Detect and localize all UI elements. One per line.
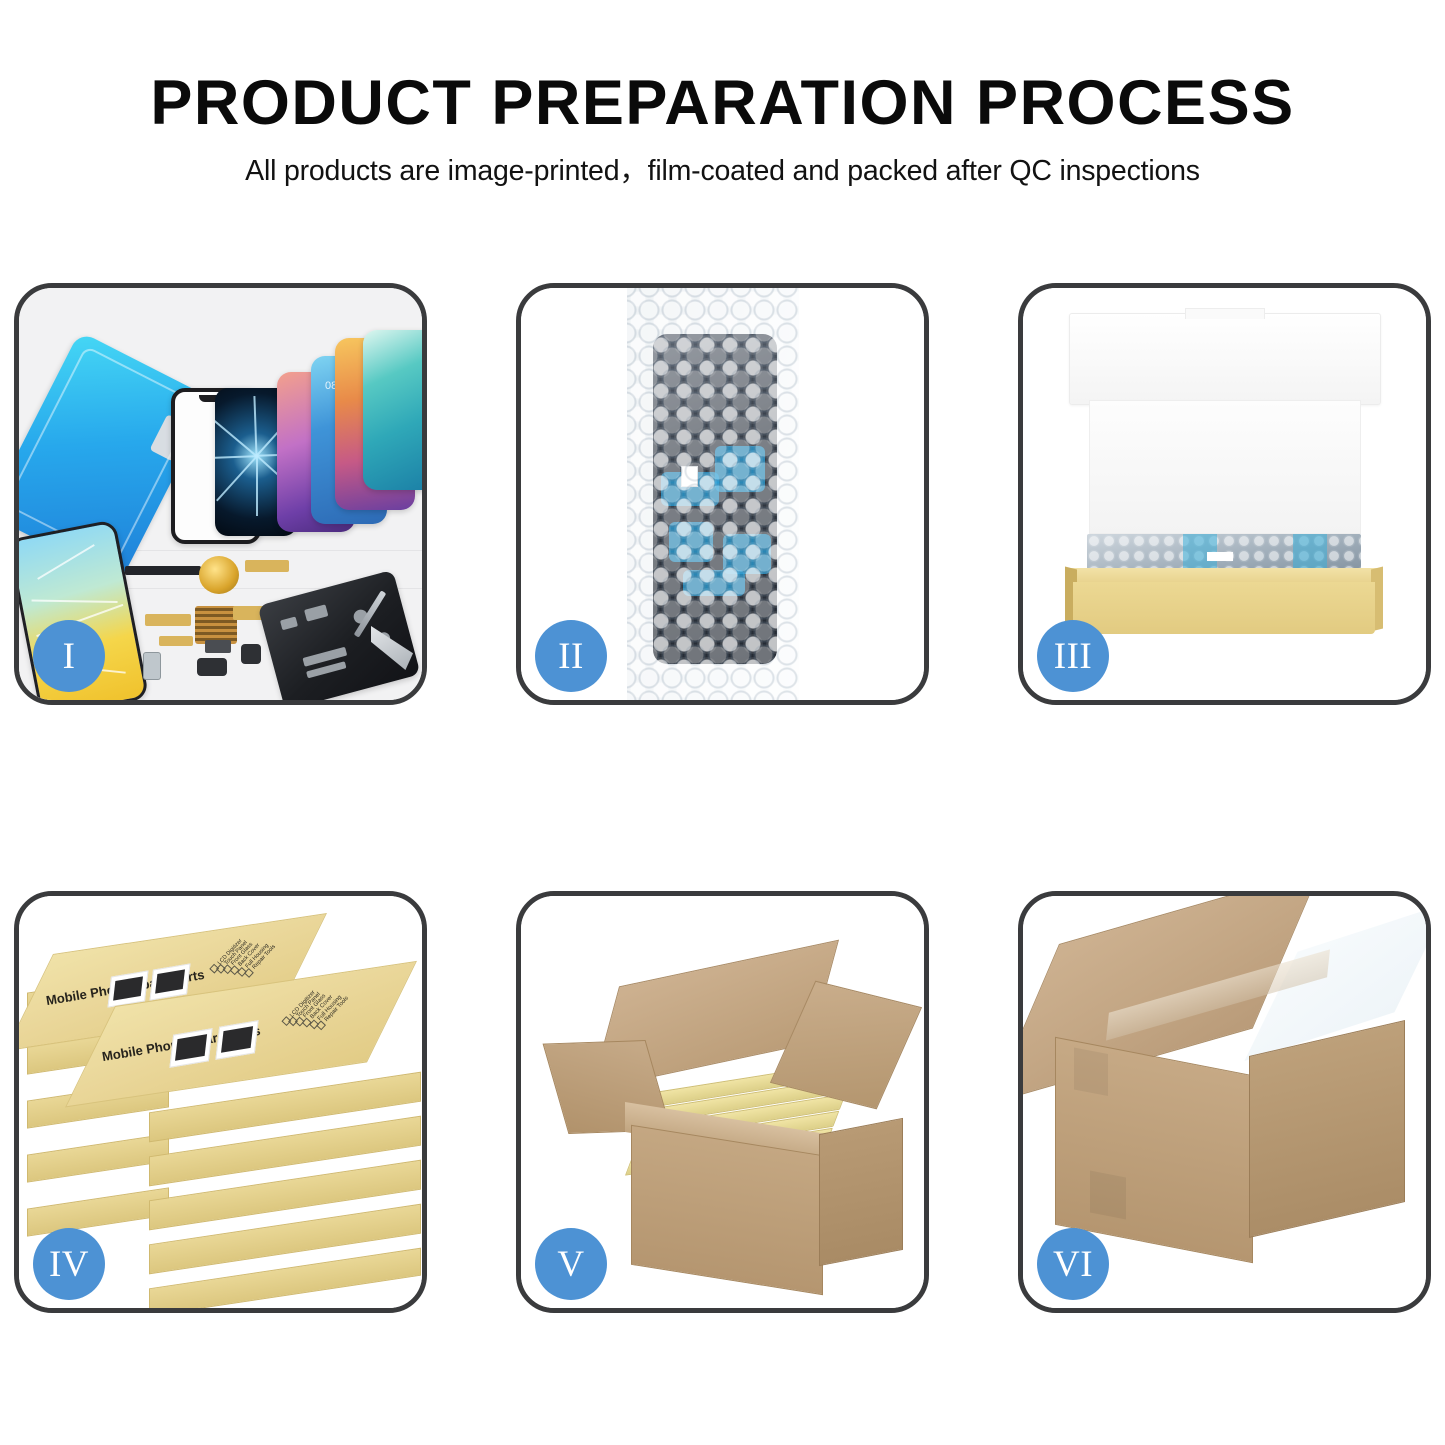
carton-side-face xyxy=(819,1118,903,1266)
sealed-carton-image xyxy=(1043,934,1415,1282)
step-numeral-badge-2: II xyxy=(535,620,607,692)
step-numeral-badge-3: III xyxy=(1037,620,1109,692)
page-title: PRODUCT PREPARATION PROCESS xyxy=(0,0,1445,135)
page-subtitle: All products are image-printed，film-coat… xyxy=(0,135,1445,186)
carton-side-face xyxy=(1249,1020,1405,1238)
speaker-image xyxy=(197,658,227,676)
process-step-panel-6: VI xyxy=(1018,891,1431,1313)
process-step-panel-5: V xyxy=(516,891,929,1313)
vibration-motor-image xyxy=(241,644,261,664)
process-step-panel-4: Mobile Phone Spare Parts LCD Digitizer T… xyxy=(14,891,427,1313)
process-step-grid: 08:08 xyxy=(14,283,1431,1313)
step-numeral-badge-1: I xyxy=(33,620,105,692)
process-step-panel-1: 08:08 xyxy=(14,283,427,705)
open-kraft-box-image xyxy=(1065,530,1383,634)
gold-camera-ring-image xyxy=(199,556,239,594)
small-component-image xyxy=(205,640,231,653)
process-step-panel-2: II xyxy=(516,283,929,705)
sim-tray-image xyxy=(143,652,161,680)
motherboard-image xyxy=(257,570,420,700)
box-lid-image xyxy=(1069,313,1381,405)
process-step-panel-3: III xyxy=(1018,283,1431,705)
ic-chip-image xyxy=(195,606,237,644)
bubble-wrap-sleeve-image xyxy=(627,288,799,700)
open-carton-image xyxy=(553,948,905,1278)
step-numeral-badge-4: IV xyxy=(33,1228,105,1300)
flex-cable-image xyxy=(145,614,191,626)
teal-phone-screen-image xyxy=(363,330,422,490)
flex-cable-image xyxy=(245,560,289,572)
box-back-wall-image xyxy=(1089,400,1361,534)
carton-front-face xyxy=(631,1125,823,1295)
page-header: PRODUCT PREPARATION PROCESS All products… xyxy=(0,0,1445,186)
step-numeral-badge-5: V xyxy=(535,1228,607,1300)
flex-cable-image xyxy=(159,636,193,646)
step-numeral-badge-6: VI xyxy=(1037,1228,1109,1300)
earpiece-mesh-image xyxy=(125,566,201,575)
